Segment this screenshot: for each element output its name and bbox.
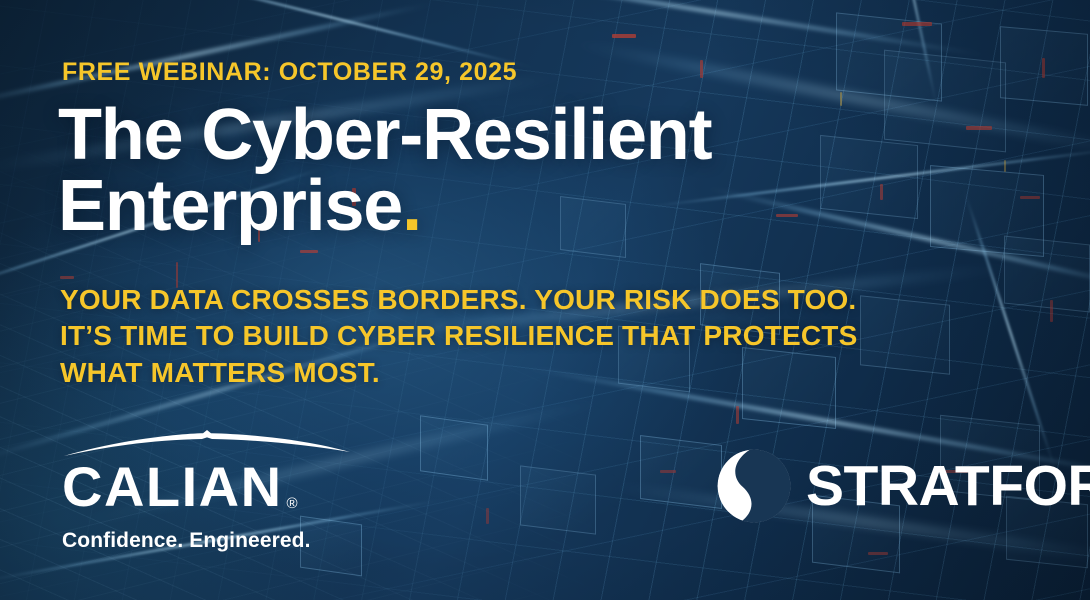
stratford-circle-s-icon xyxy=(716,448,792,524)
headline-line-1: The Cyber-Resilient xyxy=(58,100,858,171)
calian-logo: CALIAN ® Confidence. Engineered. xyxy=(62,430,362,553)
calian-registered-icon: ® xyxy=(287,496,298,511)
subhead-line-2: IT’S TIME TO BUILD CYBER RESILIENCE THAT… xyxy=(60,318,960,354)
calian-wordmark-row: CALIAN ® xyxy=(62,459,362,515)
headline-line-2-text: Enterprise xyxy=(58,166,402,246)
calian-swoosh-icon xyxy=(62,430,352,458)
banner-content: FREE WEBINAR: OCTOBER 29, 2025 The Cyber… xyxy=(0,0,1090,600)
banner-subheadline: YOUR DATA CROSSES BORDERS. YOUR RISK DOE… xyxy=(60,282,960,391)
page-title: The Cyber-Resilient Enterprise. xyxy=(58,100,858,241)
stratford-wordmark: STRATFORD xyxy=(806,454,1090,518)
webinar-date-eyebrow: FREE WEBINAR: OCTOBER 29, 2025 xyxy=(62,58,517,87)
calian-wordmark: CALIAN xyxy=(62,459,283,515)
subhead-line-3: WHAT MATTERS MOST. xyxy=(60,355,960,391)
webinar-promo-banner: FREE WEBINAR: OCTOBER 29, 2025 The Cyber… xyxy=(0,0,1090,600)
stratford-logo: STRATFORD ™ xyxy=(716,448,1090,524)
calian-tagline: Confidence. Engineered. xyxy=(62,529,362,553)
headline-accent-period: . xyxy=(402,166,421,246)
headline-line-2: Enterprise. xyxy=(58,171,858,242)
subhead-line-1: YOUR DATA CROSSES BORDERS. YOUR RISK DOE… xyxy=(60,282,960,318)
stratford-wordmark-row: STRATFORD ™ xyxy=(806,458,1090,515)
